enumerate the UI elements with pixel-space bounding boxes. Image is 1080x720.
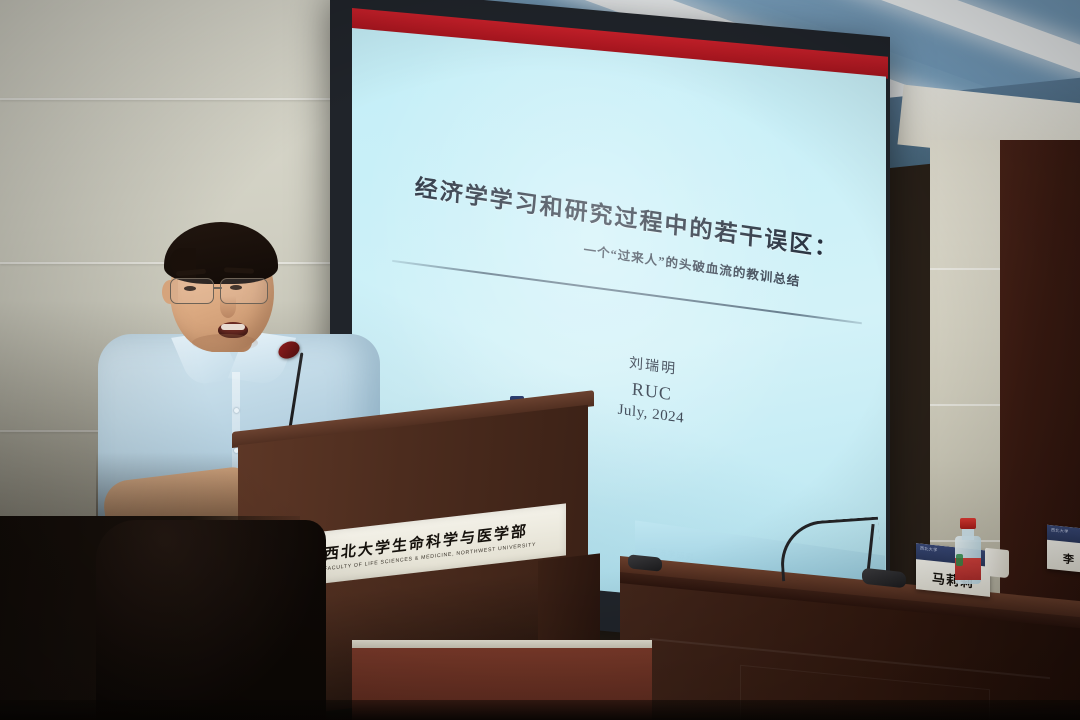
water-bottle <box>955 518 981 584</box>
bottle-label-accent <box>956 554 963 566</box>
name-placard: 西北大学 李 <box>1047 525 1080 574</box>
chin-shadow <box>192 334 258 352</box>
shirt-button <box>234 408 239 413</box>
lecture-hall-photo: 经济学学习和研究过程中的若干误区： 一个“过来人”的头破血流的教训总结 刘瑞明 … <box>0 0 1080 720</box>
placard-header-text: 西北大学 <box>1051 527 1069 535</box>
glasses-lens <box>170 278 214 304</box>
placard-header-text: 西北大学 <box>920 546 938 554</box>
wall-seam <box>930 404 1010 406</box>
bottle-neck <box>962 528 974 540</box>
bottle-cap <box>960 518 976 529</box>
wall-seam <box>0 98 352 100</box>
plaque-text-block: 西北大学生命科学与医学部 FACULTY OF LIFE SCIENCES & … <box>324 515 566 572</box>
paper-cup <box>985 548 1009 579</box>
placard-name: 李 <box>1047 549 1080 570</box>
nose <box>220 296 236 318</box>
wall-seam <box>930 268 1010 270</box>
foreground-bottom-shadow <box>0 700 1080 720</box>
placard-header-bar: 西北大学 <box>1047 525 1080 545</box>
table-groove <box>650 638 1050 679</box>
foreground-object <box>96 520 326 720</box>
